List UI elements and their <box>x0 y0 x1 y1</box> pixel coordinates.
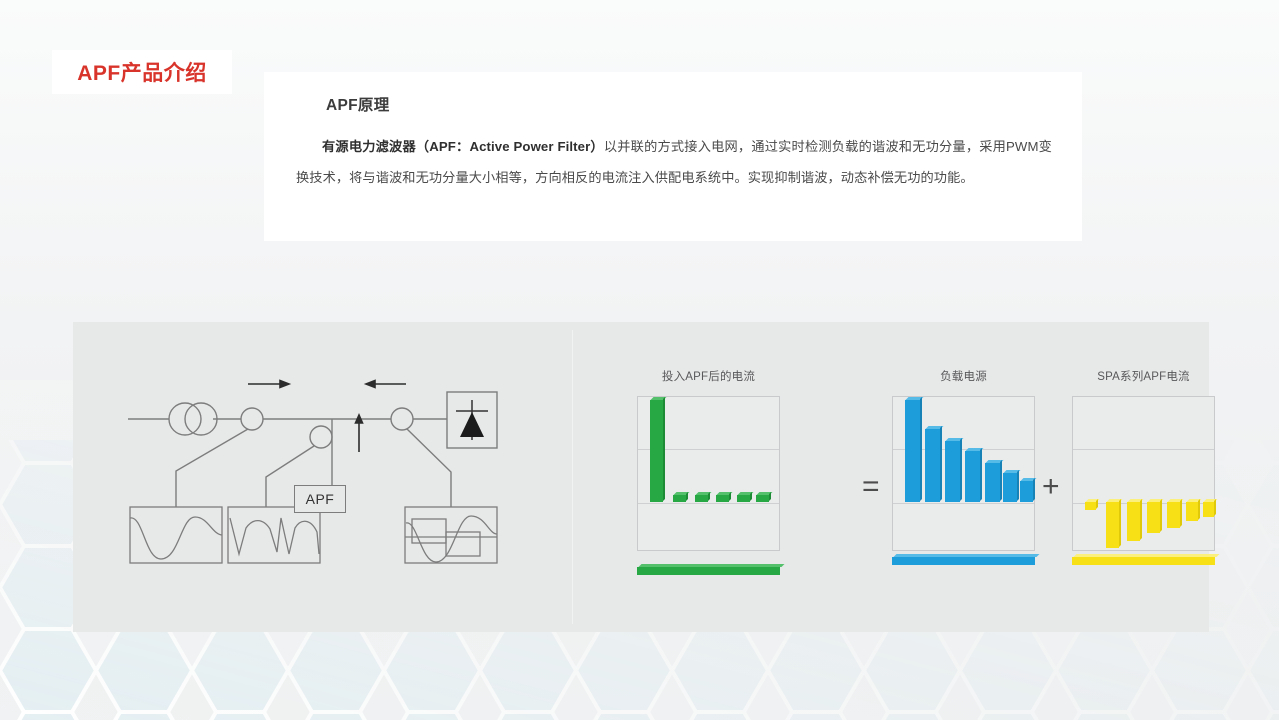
bar <box>650 400 663 502</box>
operator-plus: + <box>1042 470 1060 504</box>
chart-3-baseline <box>1072 557 1215 565</box>
principle-card: APF原理 有源电力滤波器（APF：Active Power Filter）以并… <box>264 72 1082 241</box>
bar <box>1167 502 1180 528</box>
chart-2-title: 负载电源 <box>892 368 1035 384</box>
bar <box>1203 502 1214 517</box>
bar <box>1186 502 1198 521</box>
bar <box>695 495 708 502</box>
diagram-panel: 投入APF后的电流 <box>73 322 1209 632</box>
bar <box>673 495 686 502</box>
chart-3-title: SPA系列APF电流 <box>1072 368 1215 384</box>
bar <box>1085 502 1096 510</box>
apf-unit-label: APF <box>306 491 335 507</box>
bar <box>737 495 750 502</box>
chart-3-plot <box>1079 397 1210 550</box>
bar <box>716 495 729 502</box>
bar <box>985 463 1000 502</box>
chart-1-frame <box>637 396 780 551</box>
chart-load-source: 负载电源 <box>892 368 1035 565</box>
slide-title-badge: APF产品介绍 <box>52 50 232 94</box>
bar <box>1020 481 1033 502</box>
chart-1-baseline <box>637 567 780 575</box>
paragraph-lead: 有源电力滤波器（APF：Active Power Filter） <box>322 139 604 154</box>
chart-1-plot <box>644 397 775 550</box>
slide-title-text: APF产品介绍 <box>77 57 207 87</box>
bar <box>1003 473 1017 502</box>
bar <box>905 400 920 502</box>
chart-2-frame <box>892 396 1035 551</box>
chart-1-title: 投入APF后的电流 <box>637 368 780 384</box>
chart-2-plot <box>899 397 1030 550</box>
circuit-diagram <box>73 322 572 632</box>
bar <box>1147 502 1160 533</box>
bar <box>756 495 769 502</box>
charts-area: 投入APF后的电流 <box>572 322 1209 632</box>
bar <box>925 429 940 502</box>
bar <box>1106 502 1119 548</box>
chart-3-frame <box>1072 396 1215 551</box>
chart-apf-output-current: 投入APF后的电流 <box>637 368 780 565</box>
apf-unit-box: APF <box>294 485 346 513</box>
operator-equals: = <box>862 470 880 504</box>
card-paragraph: 有源电力滤波器（APF：Active Power Filter）以并联的方式接入… <box>296 131 1052 193</box>
bar <box>965 451 980 502</box>
card-heading: APF原理 <box>326 93 1052 115</box>
chart-2-baseline <box>892 557 1035 565</box>
chart-spa-apf-current: SPA系列APF电流 <box>1072 368 1215 565</box>
bar <box>945 441 960 502</box>
bar <box>1127 502 1140 541</box>
